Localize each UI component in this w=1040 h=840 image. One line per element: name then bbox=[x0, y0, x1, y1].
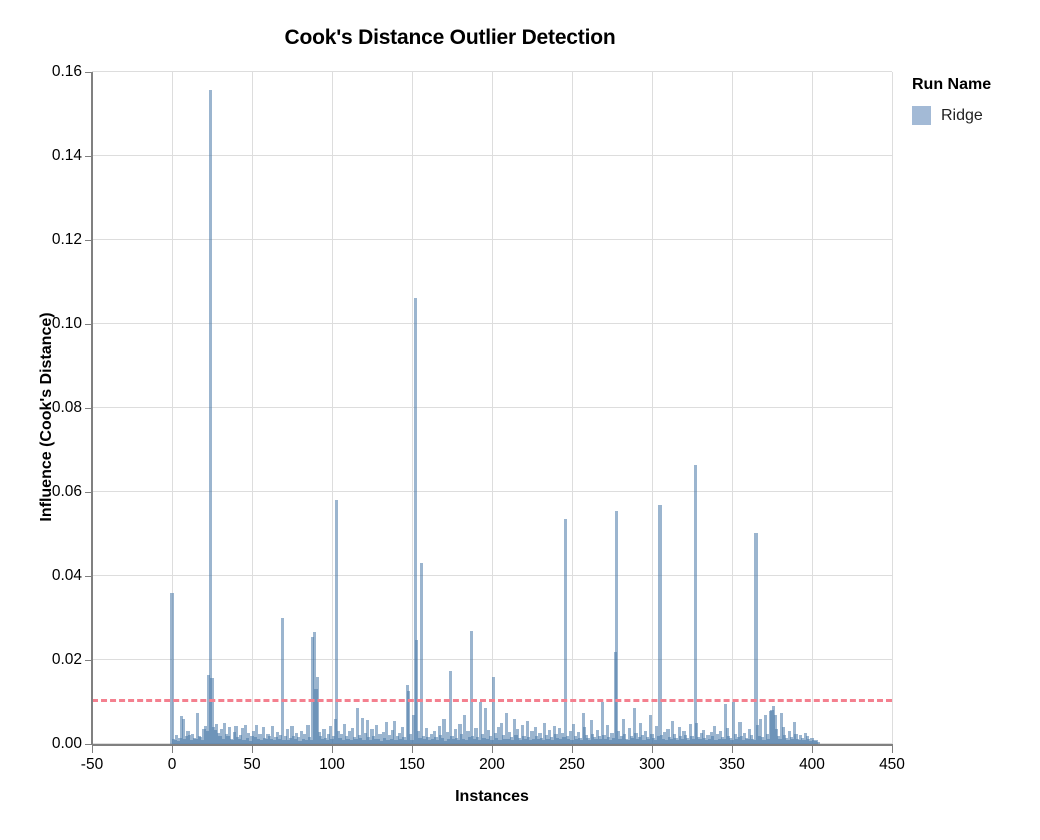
x-tick-label: 0 bbox=[132, 756, 212, 774]
legend-item-label: Ridge bbox=[941, 107, 983, 125]
x-tick-label: 150 bbox=[372, 756, 452, 774]
y-axis-title-wrap: Influence (Cook's Distance) bbox=[22, 72, 42, 744]
y-tick-mark bbox=[85, 240, 92, 241]
x-tick-mark bbox=[332, 746, 333, 753]
y-tick-label: 0.02 bbox=[8, 651, 82, 669]
bar[interactable] bbox=[209, 90, 212, 744]
legend-item-ridge[interactable]: Ridge bbox=[912, 106, 1040, 125]
x-tick-mark bbox=[492, 746, 493, 753]
x-tick-mark bbox=[892, 746, 893, 753]
bars-layer bbox=[92, 72, 892, 744]
x-tick-mark bbox=[412, 746, 413, 753]
legend-title: Run Name bbox=[912, 76, 1040, 94]
legend-swatch-icon bbox=[912, 106, 931, 125]
bar[interactable] bbox=[615, 511, 618, 744]
y-tick-label: 0.00 bbox=[8, 735, 82, 753]
y-tick-mark bbox=[85, 408, 92, 409]
x-tick-label: 250 bbox=[532, 756, 612, 774]
bar[interactable] bbox=[694, 465, 697, 744]
x-tick-label: 350 bbox=[692, 756, 772, 774]
threshold-line bbox=[92, 699, 892, 702]
bar[interactable] bbox=[335, 500, 338, 744]
x-tick-mark bbox=[252, 746, 253, 753]
x-tick-label: 300 bbox=[612, 756, 692, 774]
bar[interactable] bbox=[658, 505, 661, 744]
x-tick-mark bbox=[652, 746, 653, 753]
x-tick-mark bbox=[732, 746, 733, 753]
y-tick-mark bbox=[85, 492, 92, 493]
x-tick-label: 50 bbox=[212, 756, 292, 774]
y-axis-title: Influence (Cook's Distance) bbox=[38, 247, 56, 587]
x-tick-mark bbox=[172, 746, 173, 753]
x-tick-label: -50 bbox=[52, 756, 132, 774]
x-tick-label: 400 bbox=[772, 756, 852, 774]
bar[interactable] bbox=[754, 533, 757, 744]
y-tick-mark bbox=[85, 156, 92, 157]
y-tick-label: 0.16 bbox=[8, 63, 82, 81]
bar[interactable] bbox=[170, 593, 173, 744]
chart-root: Cook's Distance Outlier Detection 0.000.… bbox=[0, 0, 1040, 840]
legend: Run Name Ridge bbox=[912, 76, 1040, 125]
plot-area bbox=[92, 72, 892, 744]
bar[interactable] bbox=[415, 640, 418, 744]
y-tick-mark bbox=[85, 744, 92, 745]
y-tick-mark bbox=[85, 660, 92, 661]
bar[interactable] bbox=[564, 519, 567, 744]
y-tick-mark bbox=[85, 72, 92, 73]
chart-title: Cook's Distance Outlier Detection bbox=[0, 26, 900, 50]
gridline-vertical bbox=[892, 72, 893, 744]
y-tick-label: 0.14 bbox=[8, 147, 82, 165]
x-tick-label: 100 bbox=[292, 756, 372, 774]
bar[interactable] bbox=[420, 563, 423, 744]
x-tick-mark bbox=[572, 746, 573, 753]
x-tick-label: 200 bbox=[452, 756, 532, 774]
bar[interactable] bbox=[449, 671, 452, 745]
x-tick-mark bbox=[92, 746, 93, 753]
bar[interactable] bbox=[470, 631, 473, 744]
x-tick-mark bbox=[812, 746, 813, 753]
x-tick-label: 450 bbox=[852, 756, 932, 774]
y-tick-mark bbox=[85, 576, 92, 577]
x-axis-title: Instances bbox=[92, 788, 892, 806]
bar[interactable] bbox=[281, 618, 284, 744]
y-tick-mark bbox=[85, 324, 92, 325]
